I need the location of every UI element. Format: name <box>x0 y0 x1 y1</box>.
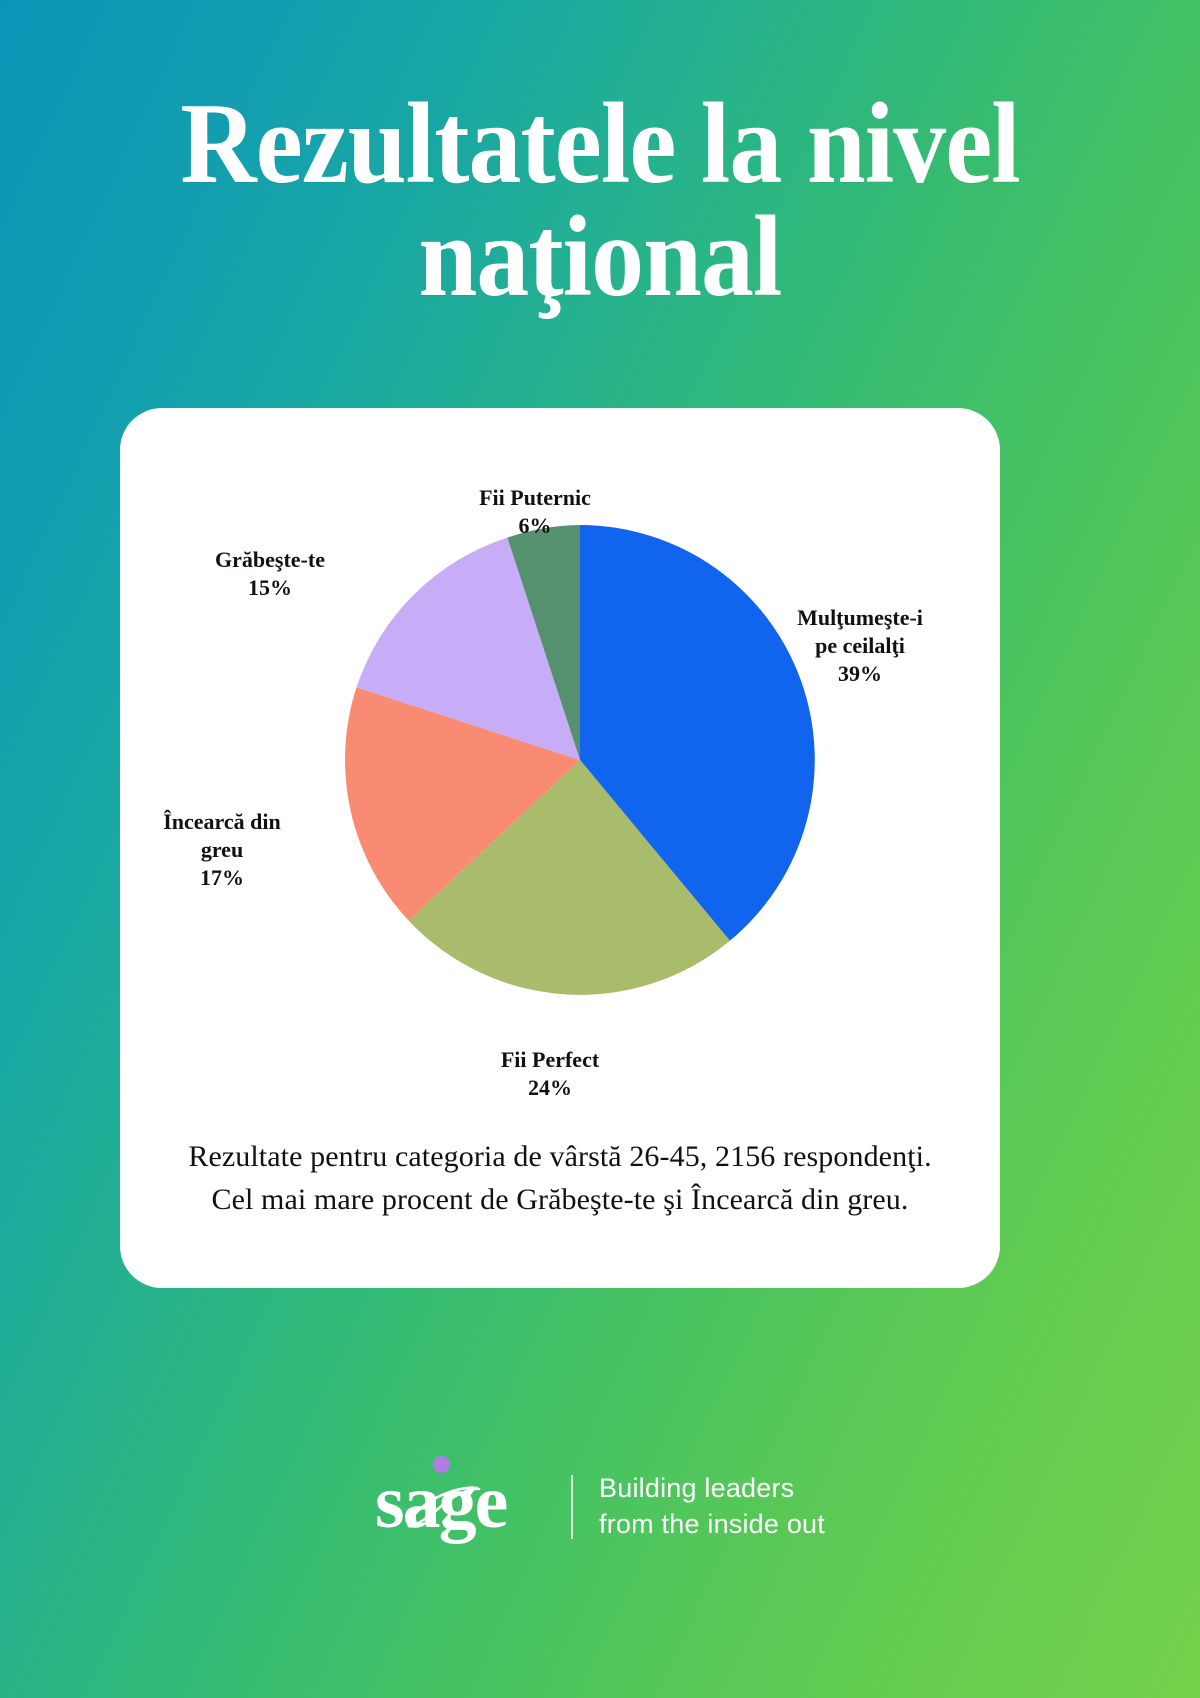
chart-caption: Rezultate pentru categoria de vârstă 26-… <box>160 1136 960 1221</box>
pie-label-grabeste-te-percent: 15% <box>150 574 390 602</box>
pie-label-multumeste-i-name2: pe ceilalţi <box>815 633 905 658</box>
poster-root: Rezultatele la nivel naţional Fii Putern… <box>0 0 1200 1698</box>
sage-wordmark: sage <box>375 1464 506 1540</box>
page-title-line-2: naţional <box>103 201 1097 314</box>
logo-divider <box>571 1475 573 1539</box>
page-title: Rezultatele la nivel naţional <box>103 88 1097 313</box>
brand-tagline: Building leaders from the inside out <box>599 1471 825 1542</box>
sage-logo-mark: sage <box>375 1468 535 1546</box>
pie-label-fii-perfect-percent: 24% <box>430 1074 670 1102</box>
pie-label-incearca-din-greu-name2: greu <box>201 837 243 862</box>
pie-label-multumeste-i-name: Mulţumeşte-i <box>797 605 923 630</box>
pie-label-fii-perfect-name: Fii Perfect <box>501 1047 599 1072</box>
pie-label-grabeste-te-name: Grăbeşte-te <box>215 547 325 572</box>
pie-label-multumeste-i-percent: 39% <box>740 660 980 688</box>
brand-tagline-line-2: from the inside out <box>599 1507 825 1543</box>
chart-card: Fii Puternic 6% Grăbeşte-te 15% Încearcă… <box>120 408 1000 1288</box>
page-title-line-1: Rezultatele la nivel <box>103 88 1097 201</box>
pie-label-fii-puternic-name: Fii Puternic <box>479 485 591 510</box>
chart-caption-line-2: Cel mai mare procent de Grăbeşte-te şi Î… <box>160 1179 960 1222</box>
pie-label-incearca-din-greu-percent: 17% <box>116 864 328 892</box>
pie-chart: Fii Puternic 6% Grăbeşte-te 15% Încearcă… <box>120 408 1000 1108</box>
footer: sage Building leaders from the inside ou… <box>0 1468 1200 1546</box>
pie-label-fii-perfect: Fii Perfect 24% <box>430 1018 670 1131</box>
pie-label-incearca-din-greu-name: Încearcă din <box>163 809 281 834</box>
brand-logo[interactable]: sage Building leaders from the inside ou… <box>375 1468 825 1546</box>
brand-tagline-line-1: Building leaders <box>599 1471 825 1507</box>
pie-label-fii-puternic: Fii Puternic 6% <box>410 456 660 569</box>
purple-dot-icon <box>433 1456 450 1473</box>
pie-label-incearca-din-greu: Încearcă din greu 17% <box>116 780 328 921</box>
pie-label-grabeste-te: Grăbeşte-te 15% <box>150 518 390 631</box>
chart-caption-line-1: Rezultate pentru categoria de vârstă 26-… <box>160 1136 960 1179</box>
pie-label-fii-puternic-percent: 6% <box>410 512 660 540</box>
pie-label-multumeste-i-pe-ceilalti: Mulţumeşte-i pe ceilalţi 39% <box>740 576 980 717</box>
